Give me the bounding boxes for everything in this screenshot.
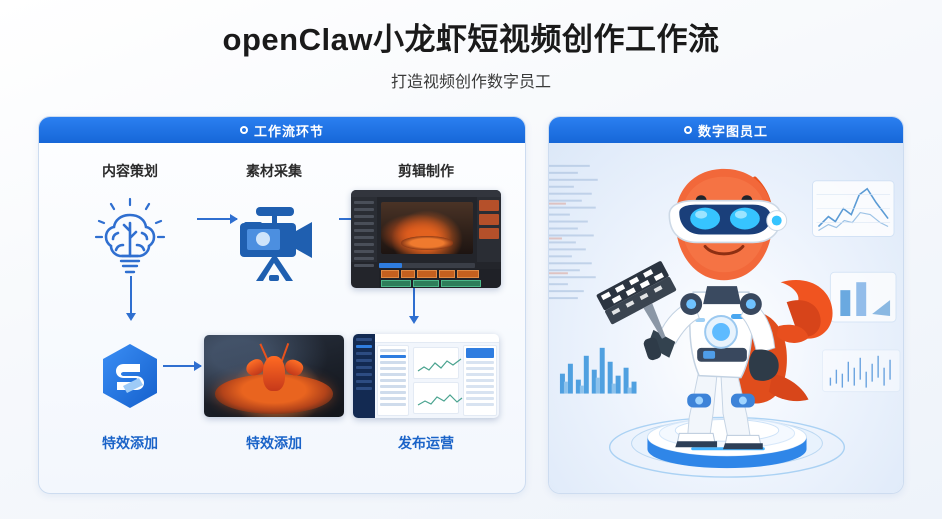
crayfish-robot-mascot (596, 169, 833, 449)
workflow-row-top: 内容策划 (63, 161, 501, 313)
video-editor-thumbnail (351, 191, 501, 287)
bar-chart-small-widget (830, 272, 896, 322)
workflow-node-effects-tool[interactable]: 特效添加 (63, 328, 197, 453)
crayfish-dish-photo (204, 335, 344, 417)
node-label-video-editing: 剪辑制作 (398, 161, 454, 181)
video-camera-tripod-icon (228, 191, 320, 287)
workflow-node-content-planning[interactable]: 内容策划 (63, 161, 197, 287)
arrow-effects-to-preview (163, 365, 201, 367)
crayfish-dish-thumbnail (204, 328, 344, 424)
page-header: openClaw小龙虾短视频创作工作流 打造视频创作数字员工 (0, 0, 942, 92)
node-label-publishing: 发布运营 (398, 433, 454, 453)
node-label-material-capture: 素材采集 (246, 161, 302, 181)
workflow-panel-header: 工作流环节 (39, 117, 525, 143)
ring-icon (684, 126, 692, 134)
dashboard-sidebar (353, 334, 375, 418)
workflow-node-publishing[interactable]: 发布运营 (351, 328, 501, 453)
workflow-node-material-capture[interactable]: 素材采集 (207, 161, 341, 287)
dashboard-chart-card-2 (413, 382, 459, 414)
editor-left-panel (351, 197, 377, 262)
node-label-effects-preview: 特效添加 (246, 433, 302, 453)
workflow-panel-title: 工作流环节 (254, 121, 324, 140)
robot-claw (777, 280, 833, 343)
video-editor-screenshot (351, 190, 501, 288)
node-label-content-planning: 内容策划 (102, 161, 158, 181)
editor-progress-bar (379, 263, 475, 268)
hexagon-s-logo-icon (99, 328, 161, 424)
workflow-node-effects-preview[interactable]: 特效添加 (199, 328, 349, 453)
ring-icon (240, 126, 248, 134)
candlestick-chart-widget (822, 350, 900, 392)
analytics-dashboard-thumbnail (353, 328, 499, 424)
arrow-planning-to-effects (130, 276, 132, 314)
node-label-effects-tool: 特效添加 (102, 433, 158, 453)
workflow-panel: 工作流环节 内容策划 (38, 116, 526, 494)
bar-chart-widget (560, 348, 637, 394)
dashboard-list-column (377, 345, 409, 416)
editor-timeline (379, 269, 501, 288)
dashboard-right-column (463, 345, 497, 416)
editor-right-panel (477, 197, 501, 262)
editor-preview-monitor (381, 202, 473, 254)
analytics-dashboard-screenshot (353, 334, 499, 418)
editor-titlebar (351, 190, 501, 197)
dashboard-chart-card-1 (413, 347, 459, 379)
vr-goggles-icon (669, 201, 786, 243)
workflow-diagram: 内容策划 (39, 143, 525, 493)
digital-employee-panel: 数字图员工 (548, 116, 904, 494)
code-stream-widget (549, 165, 598, 299)
line-chart-widget (813, 181, 895, 237)
mascot-scene (549, 143, 903, 493)
arrow-editing-to-publishing (413, 285, 415, 317)
panels-container: 工作流环节 内容策划 (38, 116, 904, 494)
arrow-planning-to-capture (197, 218, 237, 220)
page-subtitle: 打造视频创作数字员工 (0, 68, 942, 92)
brain-lightbulb-icon (87, 191, 173, 287)
page-title: openClaw小龙虾短视频创作工作流 (0, 22, 942, 58)
dashboard-topbar (375, 334, 499, 343)
digital-employee-panel-header: 数字图员工 (549, 117, 903, 143)
digital-employee-panel-title: 数字图员工 (698, 121, 768, 140)
workflow-node-video-editing[interactable]: 剪辑制作 (351, 161, 501, 287)
workflow-row-bottom: 特效添加 特效添加 (63, 313, 501, 453)
